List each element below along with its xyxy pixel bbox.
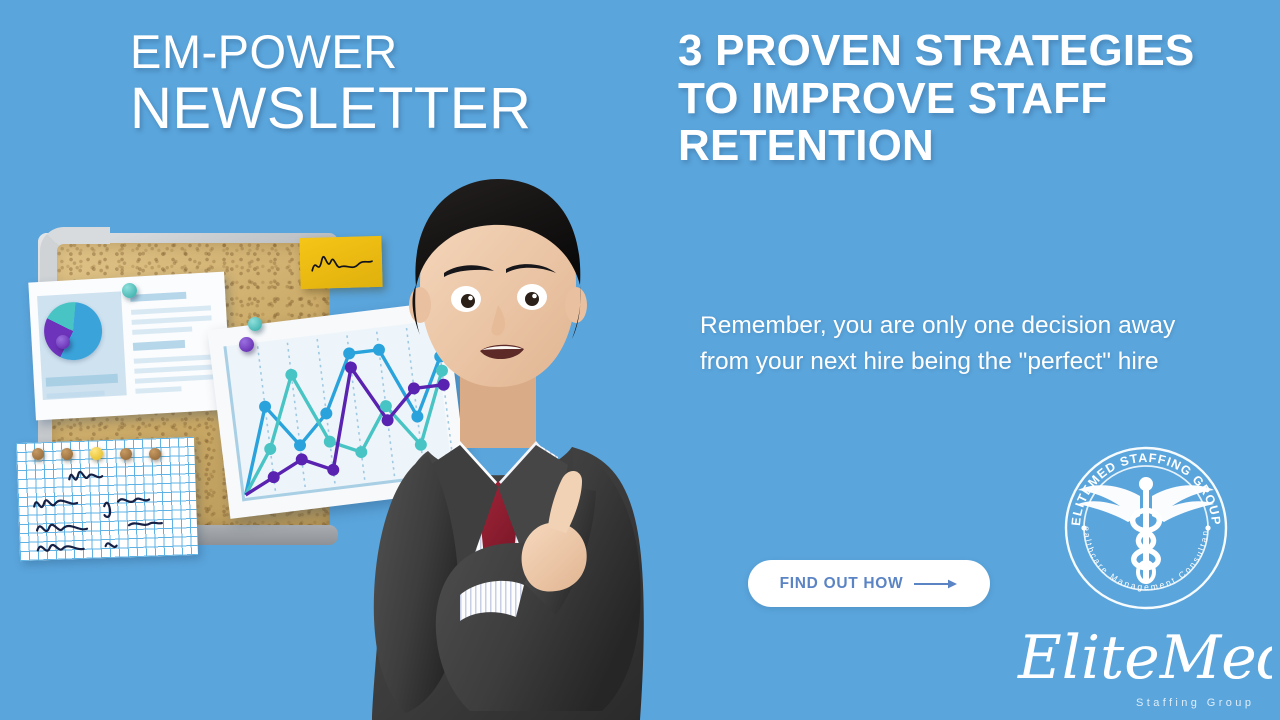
body-copy-line2: from your next hire being the "perfect" …	[700, 344, 1266, 380]
wordmark-subtitle: Staffing Group	[1136, 697, 1254, 709]
push-pin	[32, 448, 44, 460]
push-pin	[239, 337, 254, 352]
push-pin	[56, 335, 70, 349]
body-copy: Remember, you are only one decision away…	[700, 308, 1266, 379]
board-frame-elbow	[40, 227, 110, 285]
text-line	[133, 340, 185, 351]
headline-line3: RETENTION	[678, 122, 1278, 170]
text-line	[134, 364, 214, 373]
text-line	[131, 305, 211, 314]
arrow-right-icon	[914, 578, 958, 590]
push-pin	[149, 448, 161, 460]
newsletter-brand-title: EM-POWER NEWSLETTER	[130, 28, 600, 138]
wordmark-script: EliteMed	[1017, 623, 1272, 693]
push-pin	[120, 448, 132, 460]
elitemed-badge-logo: ELITEMED STAFFING GROUP Healthcare Manag…	[1058, 440, 1234, 616]
push-pin	[61, 448, 73, 460]
text-line	[132, 315, 212, 324]
line-data-point	[285, 368, 298, 381]
poster-canvas: EM-POWER NEWSLETTER 3 PROVEN STRATEGIES …	[0, 0, 1280, 720]
find-out-how-button[interactable]: FIND OUT HOW	[748, 560, 990, 607]
text-line	[135, 386, 181, 394]
push-pin	[90, 447, 103, 460]
headline-line2: TO IMPROVE STAFF	[678, 75, 1278, 123]
headline-line1: 3 PROVEN STRATEGIES	[678, 27, 1278, 75]
page-headline: 3 PROVEN STRATEGIES TO IMPROVE STAFF RET…	[678, 27, 1278, 170]
cta-label: FIND OUT HOW	[780, 575, 904, 593]
businessman-character	[310, 165, 700, 720]
text-line	[135, 374, 215, 383]
corkboard-illustration	[0, 165, 700, 720]
elitemed-wordmark: EliteMed Staffing Group	[1010, 612, 1272, 716]
push-pin	[248, 317, 262, 331]
text-line	[134, 354, 214, 363]
line-data-point	[264, 442, 277, 455]
elitemed-script-mark: EliteMed Staffing Group	[1010, 612, 1272, 716]
brand-title-line1: EM-POWER	[130, 28, 600, 75]
push-pin	[122, 283, 137, 298]
body-copy-line1: Remember, you are only one decision away	[700, 308, 1266, 344]
brand-title-line2: NEWSLETTER	[130, 80, 600, 138]
text-line	[132, 327, 192, 335]
text-line	[130, 292, 186, 302]
